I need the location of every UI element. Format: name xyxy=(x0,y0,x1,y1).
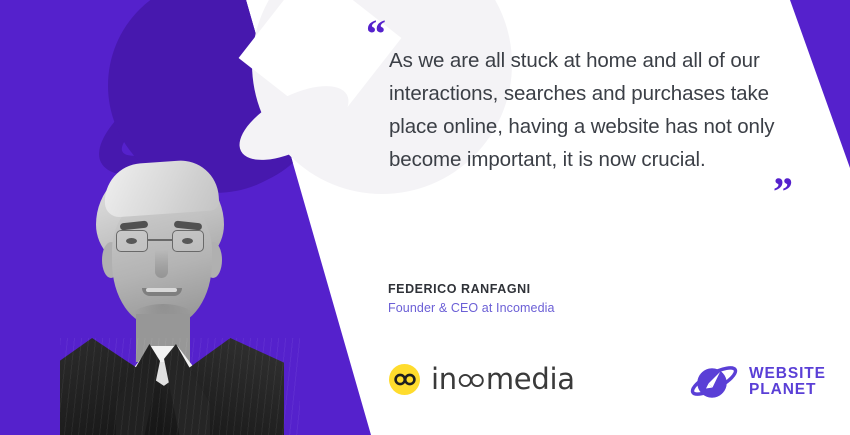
portrait-glasses-bridge xyxy=(148,239,172,241)
quote-open-mark: “ xyxy=(366,14,385,54)
website-planet-logo[interactable]: WEBSITE PLANET xyxy=(688,361,826,403)
incomedia-word-end: media xyxy=(486,365,575,394)
incomedia-badge-icon xyxy=(389,364,420,395)
incomedia-infinity-icon xyxy=(458,373,485,388)
attribution: FEDERICO RANFAGNI Founder & CEO at Incom… xyxy=(388,282,555,315)
portrait-nose xyxy=(155,250,168,278)
attribution-role: Founder & CEO at Incomedia xyxy=(388,301,555,315)
incomedia-word-start: in xyxy=(431,365,457,394)
incomedia-logo[interactable]: in media xyxy=(389,364,575,395)
website-planet-line-2: PLANET xyxy=(749,382,826,398)
corner-accent-triangle xyxy=(790,0,850,168)
website-planet-mark-icon xyxy=(688,361,740,403)
portrait-hair-front xyxy=(102,160,219,218)
quote-close-mark: ” xyxy=(773,172,792,212)
portrait-illustration xyxy=(60,160,300,435)
portrait-glasses-left xyxy=(116,230,148,252)
quote-card: “ As we are all stuck at home and all of… xyxy=(0,0,850,435)
portrait-teeth xyxy=(146,288,177,292)
quote-text: As we are all stuck at home and all of o… xyxy=(389,44,789,176)
portrait-photo xyxy=(60,160,300,435)
website-planet-wordmark: WEBSITE PLANET xyxy=(749,366,826,398)
incomedia-wordmark: in media xyxy=(431,365,575,394)
attribution-name: FEDERICO RANFAGNI xyxy=(388,282,555,296)
portrait-glasses-right xyxy=(172,230,204,252)
website-planet-line-1: WEBSITE xyxy=(749,366,826,382)
